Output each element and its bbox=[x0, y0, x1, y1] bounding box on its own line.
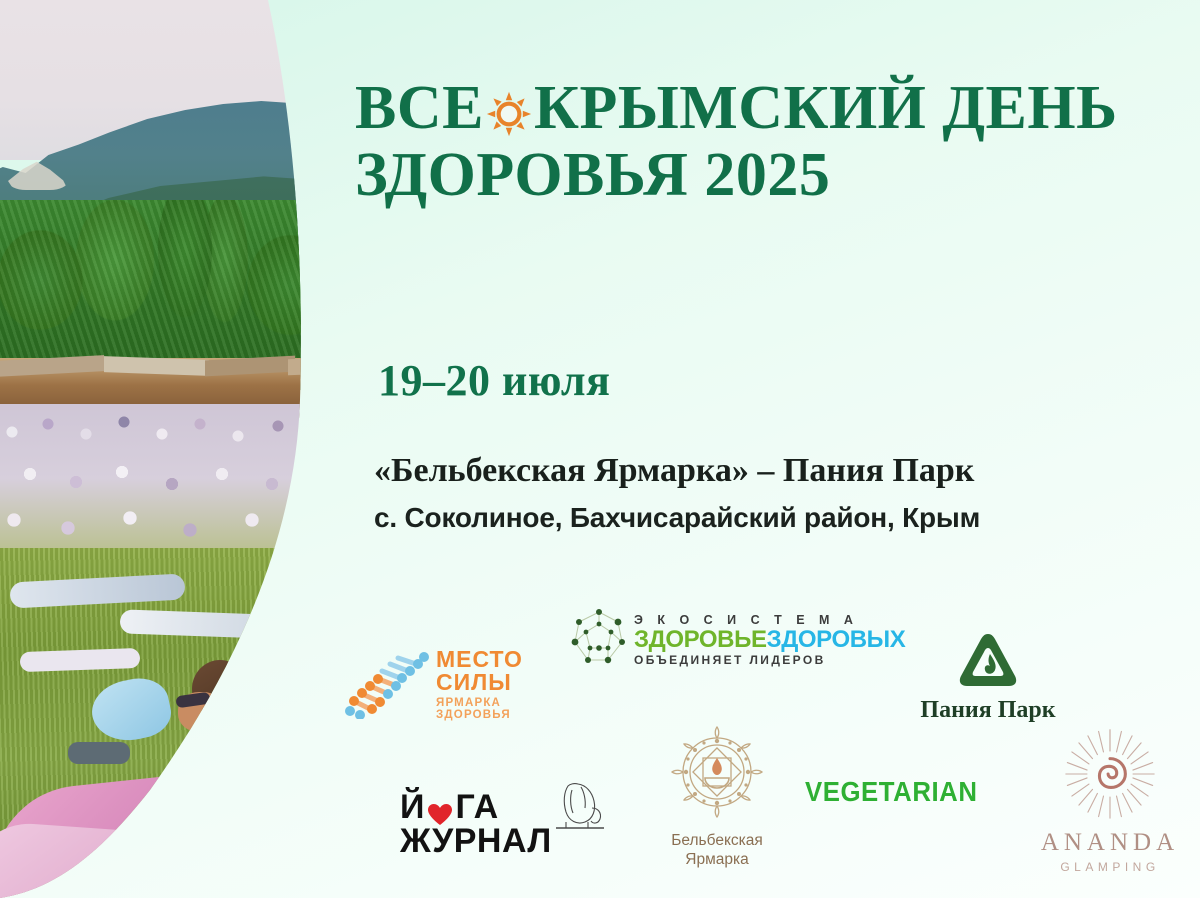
title-line1-before-sun: ВСЕ bbox=[355, 78, 484, 139]
venue-name: «Бельбекская Ярмарка» – Пания Парк bbox=[374, 452, 1200, 490]
title-line1-after-sun: КРЫМСКИЙ ДЕНЬ bbox=[534, 78, 1118, 139]
stall-roof bbox=[288, 357, 330, 375]
title-line2: ЗДОРОВЬЯ 2025 bbox=[355, 145, 1200, 206]
logo-vegetarian[interactable]: VEGETARIAN bbox=[805, 776, 975, 816]
poster-content: ВСЕ bbox=[330, 0, 1200, 898]
heart-icon bbox=[428, 798, 452, 820]
logo-zz-line2-b: ЗДОРОВЫХ bbox=[767, 626, 906, 653]
logo-zz-line2-a: ЗДОРОВЬЕ bbox=[634, 626, 767, 653]
logo-yj-line2: ЖУРНАЛ bbox=[400, 822, 552, 860]
logo-pania-park[interactable]: Пания Парк bbox=[898, 632, 1078, 732]
logo-belbekskaya-line1: Бельбекская bbox=[632, 831, 802, 850]
network-nodes-icon bbox=[570, 608, 628, 673]
logo-zz-line3: ОБЪЕДИНЯЕТ ЛИДЕРОВ bbox=[634, 654, 905, 667]
logo-ananda-glamping[interactable]: ANANDA GLAMPING bbox=[1020, 726, 1200, 871]
logo-belbekskaya-line2: Ярмарка bbox=[632, 850, 802, 869]
logo-zdorovie-zdorovyh[interactable]: Э К О С И С Т Е М А ЗДОРОВЬЕЗДОРОВЫХ ОБЪ… bbox=[570, 608, 860, 680]
event-date: 19–20 июля bbox=[378, 355, 610, 406]
logo-ananda-line2: GLAMPING bbox=[1020, 860, 1200, 874]
logo-yj-line1-b: ГА bbox=[455, 790, 499, 824]
crowd-seated bbox=[0, 404, 330, 554]
venue-address: с. Соколиное, Бахчисарайский район, Крым bbox=[374, 502, 1200, 534]
sun-icon bbox=[486, 87, 532, 133]
festival-crowd-photo bbox=[0, 0, 330, 898]
logo-yj-line1-a: Й bbox=[400, 790, 425, 824]
logo-mesto-sily-line1: МЕСТО СИЛЫ bbox=[436, 648, 570, 694]
person-lying bbox=[20, 648, 141, 672]
logo-yoga-zhurnal[interactable]: Й ГА ЖУРНАЛ bbox=[400, 790, 600, 880]
logo-mesto-sily-line2: ЯРМАРКА ЗДОРОВЬЯ bbox=[436, 697, 570, 721]
dna-helix-icon bbox=[340, 645, 432, 724]
page-title: ВСЕ bbox=[355, 78, 1200, 206]
event-poster: ВСЕ bbox=[0, 0, 1200, 898]
logo-ananda-line1: ANANDA bbox=[1020, 829, 1200, 857]
heart-cat-icon bbox=[548, 778, 610, 845]
triangle-leaf-icon bbox=[957, 675, 1019, 692]
logo-belbekskaya-yarmarka[interactable]: Бельбекская Ярмарка bbox=[632, 722, 802, 872]
logo-mesto-sily[interactable]: МЕСТО СИЛЫ ЯРМАРКА ЗДОРОВЬЯ bbox=[340, 645, 570, 740]
sunburst-spiral-icon bbox=[1062, 809, 1158, 826]
festival-photo bbox=[0, 0, 330, 898]
logo-vegetarian-text: VEGETARIAN bbox=[805, 776, 961, 808]
mandala-flame-icon bbox=[667, 809, 767, 826]
shoes bbox=[68, 742, 130, 764]
person-foreground-pink-secondary bbox=[0, 820, 153, 898]
logo-pania-park-name: Пания Парк bbox=[898, 697, 1078, 724]
logo-zz-line1: Э К О С И С Т Е М А bbox=[634, 614, 905, 628]
logo-belbekskaya-name: Бельбекская Ярмарка bbox=[632, 831, 802, 870]
